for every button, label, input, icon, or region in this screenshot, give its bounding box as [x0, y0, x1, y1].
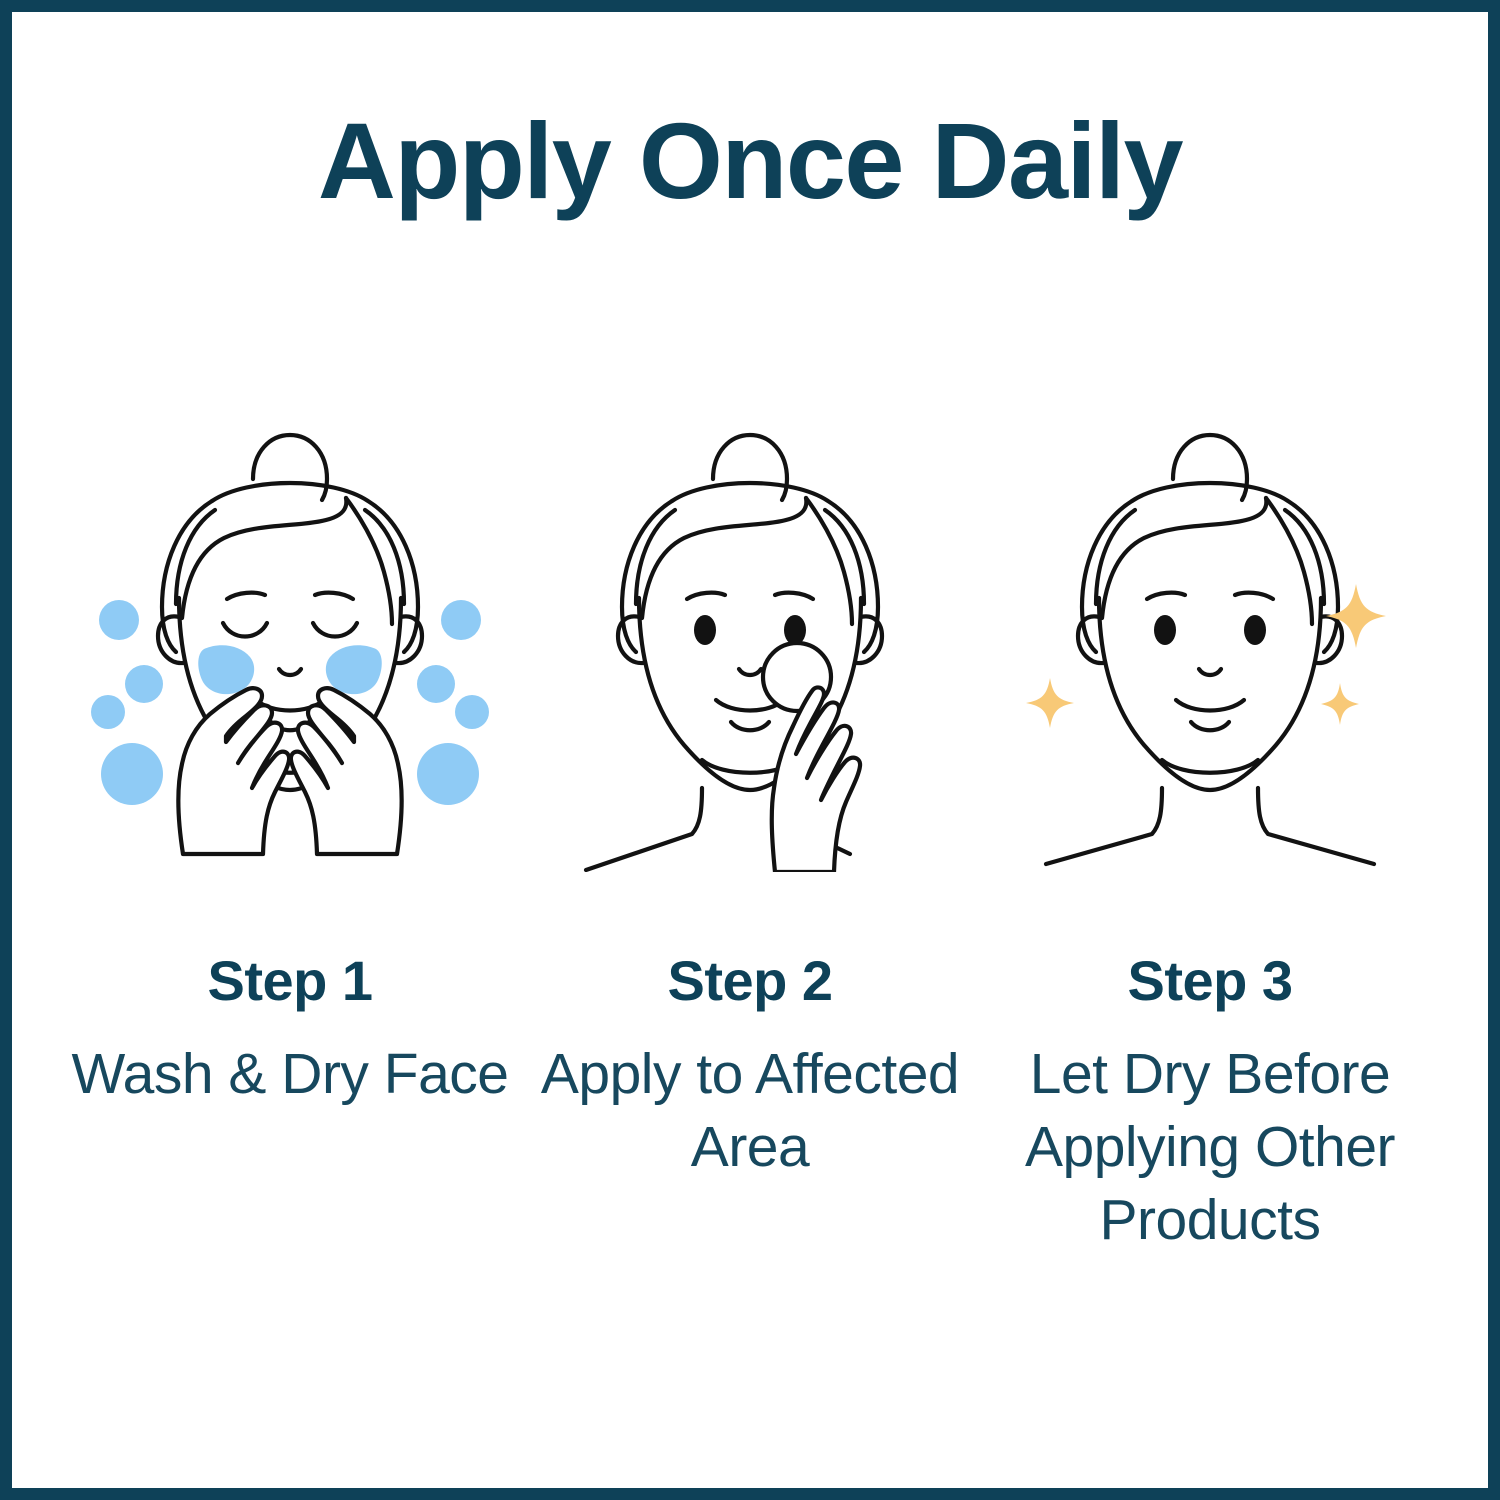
step-heading: Step 2 — [667, 950, 832, 1012]
steps-row: Step 1 Wash & Dry Face — [12, 402, 1488, 1256]
step-caption: Wash & Dry Face — [72, 1038, 509, 1111]
foam-patches — [198, 645, 382, 694]
illustration-wash-face — [90, 402, 490, 872]
eyes — [1154, 615, 1266, 645]
step-heading: Step 1 — [207, 950, 372, 1012]
step-caption: Let Dry Before Applying Other Products — [990, 1038, 1430, 1257]
step-card-1: Step 1 Wash & Dry Face — [70, 402, 510, 1256]
step-caption: Apply to Affected Area — [530, 1038, 970, 1184]
page-title: Apply Once Daily — [12, 104, 1488, 217]
step-heading: Step 3 — [1127, 950, 1292, 1012]
hand — [772, 687, 860, 872]
instruction-poster: Apply Once Daily — [0, 0, 1500, 1500]
illustration-clean-face-sparkles — [1010, 402, 1410, 872]
step-card-2: Step 2 Apply to Affected Area — [530, 402, 970, 1256]
step-card-3: Step 3 Let Dry Before Applying Other Pro… — [990, 402, 1430, 1256]
eyes — [694, 615, 806, 645]
illustration-apply-cotton-pad — [550, 402, 950, 872]
